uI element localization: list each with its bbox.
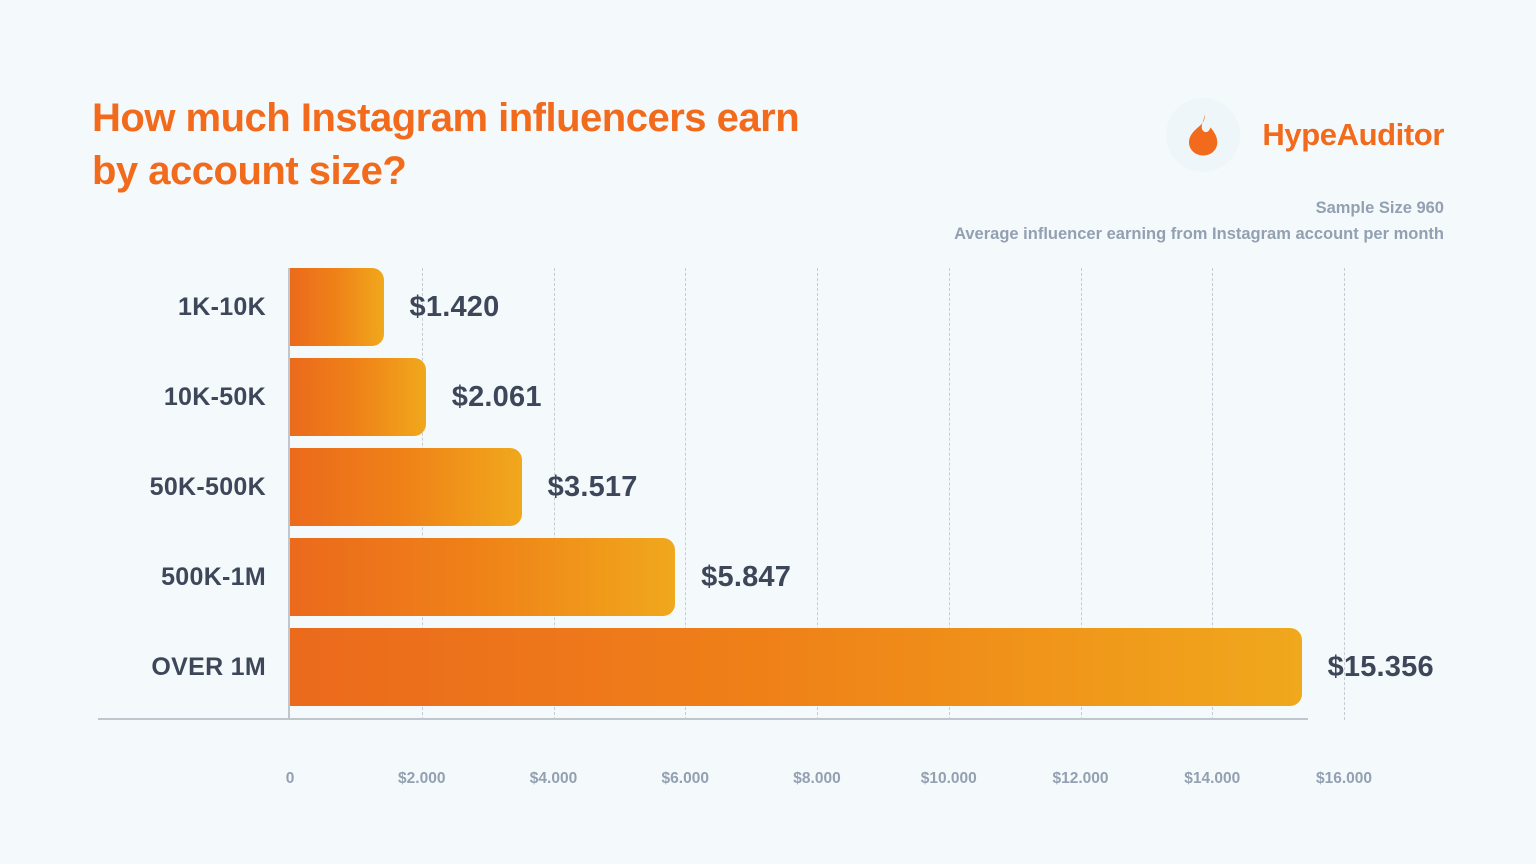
x-tick-label: $16.000	[1316, 770, 1372, 788]
x-tick-label: $6.000	[662, 770, 709, 788]
bar-value-label: $2.061	[452, 358, 542, 436]
bar-50k-500k[interactable]	[290, 448, 522, 526]
bar-value-label: $15.356	[1328, 628, 1434, 706]
x-tick-label: $4.000	[530, 770, 577, 788]
x-axis-baseline	[98, 718, 1308, 720]
bar-1k-10k[interactable]	[290, 268, 384, 346]
bar-category-label: 1K-10K	[0, 268, 278, 346]
x-tick-label: $8.000	[793, 770, 840, 788]
x-tick-label: $14.000	[1184, 770, 1240, 788]
bar-10k-50k[interactable]	[290, 358, 426, 436]
x-tick-label: $12.000	[1052, 770, 1108, 788]
bar-category-label: 50K-500K	[0, 448, 278, 526]
bar-value-label: $5.847	[701, 538, 791, 616]
bar-500k-1m[interactable]	[290, 538, 675, 616]
x-tick-label: $10.000	[921, 770, 977, 788]
x-tick-label: 0	[286, 770, 295, 788]
bar-category-label: 500K-1M	[0, 538, 278, 616]
bar-value-label: $1.420	[410, 268, 500, 346]
bar-over-1m[interactable]	[290, 628, 1302, 706]
bar-chart-plot: 1K-10K$1.42010K-50K$2.06150K-500K$3.5175…	[0, 0, 1536, 864]
bar-category-label: OVER 1M	[0, 628, 278, 706]
bar-value-label: $3.517	[548, 448, 638, 526]
infographic-canvas: How much Instagram influencers earn by a…	[0, 0, 1536, 864]
bar-category-label: 10K-50K	[0, 358, 278, 436]
x-tick-label: $2.000	[398, 770, 445, 788]
